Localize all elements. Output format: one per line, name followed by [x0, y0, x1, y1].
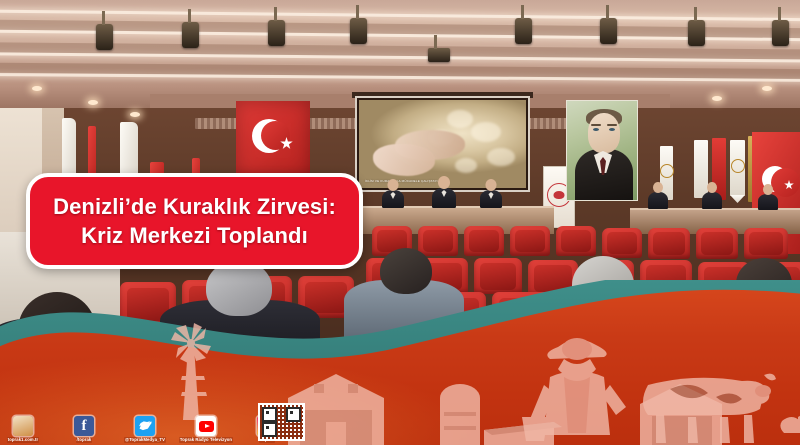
turkish-flag-left — [236, 101, 310, 177]
social-label: /toprak — [76, 437, 93, 443]
panelist — [648, 192, 668, 209]
panelist — [382, 190, 404, 208]
qr-code[interactable] — [258, 403, 305, 441]
headline-badge: Denizli’de Kuraklık Zirvesi: Kriz Merkez… — [26, 173, 363, 269]
screen-image: İKLİM VE KURAKLIKLA MÜCADELE ÇALIŞTAYI — [359, 100, 526, 188]
stage-light-icon — [350, 18, 367, 44]
vertical-banner — [730, 140, 745, 196]
panelist — [432, 188, 456, 208]
farmer-and-livestock-illustration — [520, 325, 800, 445]
social-links-bar: toprak1.com.tr f /toprak @ToprakMedya_TV… — [6, 403, 284, 443]
panelist — [480, 190, 502, 208]
screen-caption: İKLİM VE KURAKLIKLA MÜCADELE ÇALIŞTAYI — [365, 179, 438, 183]
headline-line-1: Denizli’de Kuraklık Zirvesi: — [53, 194, 336, 219]
stage-light-icon — [96, 24, 113, 50]
twitter-icon — [135, 416, 155, 436]
headline-text: Denizli’de Kuraklık Zirvesi: Kriz Merkez… — [43, 192, 346, 250]
stage-light-icon — [600, 18, 617, 44]
social-link-youtube[interactable]: Toprak Radyo Televizyon — [189, 416, 223, 443]
stage-light-icon — [268, 20, 285, 46]
social-label: Toprak Radyo Televizyon — [179, 437, 233, 443]
youtube-icon — [196, 416, 216, 436]
stage-light-icon — [515, 18, 532, 44]
panelist — [702, 192, 722, 209]
social-link-website[interactable]: toprak1.com.tr — [6, 416, 40, 443]
stage-light-icon — [772, 20, 789, 46]
social-link-facebook[interactable]: f /toprak — [67, 416, 101, 443]
panelist — [758, 194, 778, 210]
stage-light-icon — [182, 22, 199, 48]
news-card: İKLİM VE KURAKLIKLA MÜCADELE ÇALIŞTAYI — [0, 0, 800, 445]
social-link-twitter[interactable]: @ToprakMedya_TV — [128, 416, 162, 443]
social-label: toprak1.com.tr — [7, 437, 40, 443]
ataturk-portrait — [566, 100, 638, 201]
branding-band: toprak TV TÜRKİYE'NİN TARIM EKRANI topra… — [0, 280, 800, 445]
stage-light-icon — [688, 20, 705, 46]
website-icon — [13, 416, 33, 436]
projector-icon — [428, 48, 450, 62]
headline-line-2: Kriz Merkezi Toplandı — [81, 223, 308, 248]
facebook-icon: f — [74, 416, 94, 436]
vertical-banner — [694, 140, 708, 198]
social-label: @ToprakMedya_TV — [124, 437, 166, 443]
